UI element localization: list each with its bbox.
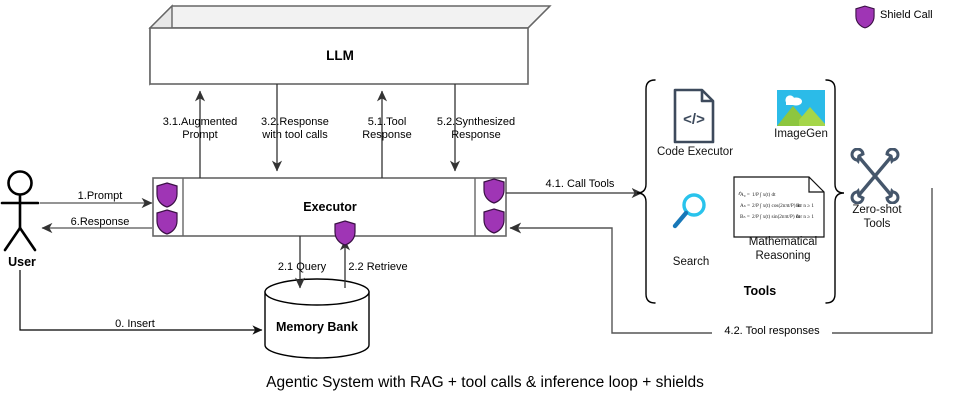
crossed-wrenches-icon: [849, 148, 901, 204]
shield-icon: [855, 5, 875, 29]
flow-label-tool-responses: 4.2. Tool responses: [712, 325, 832, 338]
svg-text:Bₙ =: Bₙ =: [740, 214, 750, 220]
tools-group-label: Tools: [715, 284, 805, 298]
shield-icon: [334, 220, 356, 246]
flow-label-call-tools: 4.1. Call Tools: [528, 178, 632, 191]
legend-shield-label: Shield Call: [880, 9, 970, 22]
tool-label-mathematical-reasoning: Mathematical Reasoning: [735, 236, 831, 263]
user-label: User: [0, 255, 44, 269]
diagram-caption: Agentic System with RAG + tool calls & i…: [0, 374, 970, 392]
flow-label-response: 6.Response: [48, 216, 152, 229]
image-picture-icon: [777, 90, 825, 126]
tool-label-imagegen: ImageGen: [760, 128, 842, 142]
flow-label-retrieve: 2.2 Retrieve: [330, 261, 426, 274]
svg-text:Aₙ =: Aₙ =: [740, 203, 750, 209]
memory-bank-label: Memory Bank: [257, 320, 377, 334]
flow-label-insert: 0. Insert: [80, 318, 190, 331]
svg-text:for n ≥ 1: for n ≥ 1: [796, 213, 814, 220]
svg-text:1/P ∫ x(t) dt: 1/P ∫ x(t) dt: [752, 191, 776, 198]
tool-label-zero-shot-tools: Zero-shot Tools: [841, 204, 913, 231]
svg-text:A₀ =: A₀ =: [740, 192, 750, 198]
shield-icon: [156, 182, 178, 208]
flow-label-prompt: 1.Prompt: [50, 190, 150, 203]
executor-label: Executor: [200, 200, 460, 214]
user-actor-icon: [2, 172, 38, 251]
tool-label-code-executor: Code Executor: [650, 146, 740, 160]
tool-label-search: Search: [655, 256, 727, 270]
llm-box: [150, 6, 550, 84]
memory-bank-cylinder: [265, 279, 369, 358]
code-document-icon: </>: [672, 88, 716, 144]
shield-icon: [483, 178, 505, 204]
formula-document-icon: A₀ = 1/P ∫ x(t) dt Aₙ = 2/P ∫ x(t) cos(2…: [733, 176, 825, 238]
svg-text:2/P ∫ x(t) sin(2nπt/P) dt: 2/P ∫ x(t) sin(2nπt/P) dt: [752, 213, 801, 220]
svg-text:</>: </>: [683, 111, 705, 128]
flow-label-synthesized-response: 5.2.Synthesized Response: [420, 116, 532, 142]
shield-icon: [156, 209, 178, 235]
diagram-canvas: Shield Call </> Code Executor ImageGen S…: [0, 0, 970, 411]
svg-text:for n ≥ 1: for n ≥ 1: [796, 202, 814, 209]
flow-label-response-tool-calls: 3.2.Response with tool calls: [237, 116, 353, 142]
llm-label: LLM: [190, 48, 490, 63]
shield-icon: [483, 208, 505, 234]
svg-text:2/P ∫ x(t) cos(2nπt/P) dt: 2/P ∫ x(t) cos(2nπt/P) dt: [752, 202, 801, 209]
magnifying-glass-icon: [672, 192, 710, 232]
